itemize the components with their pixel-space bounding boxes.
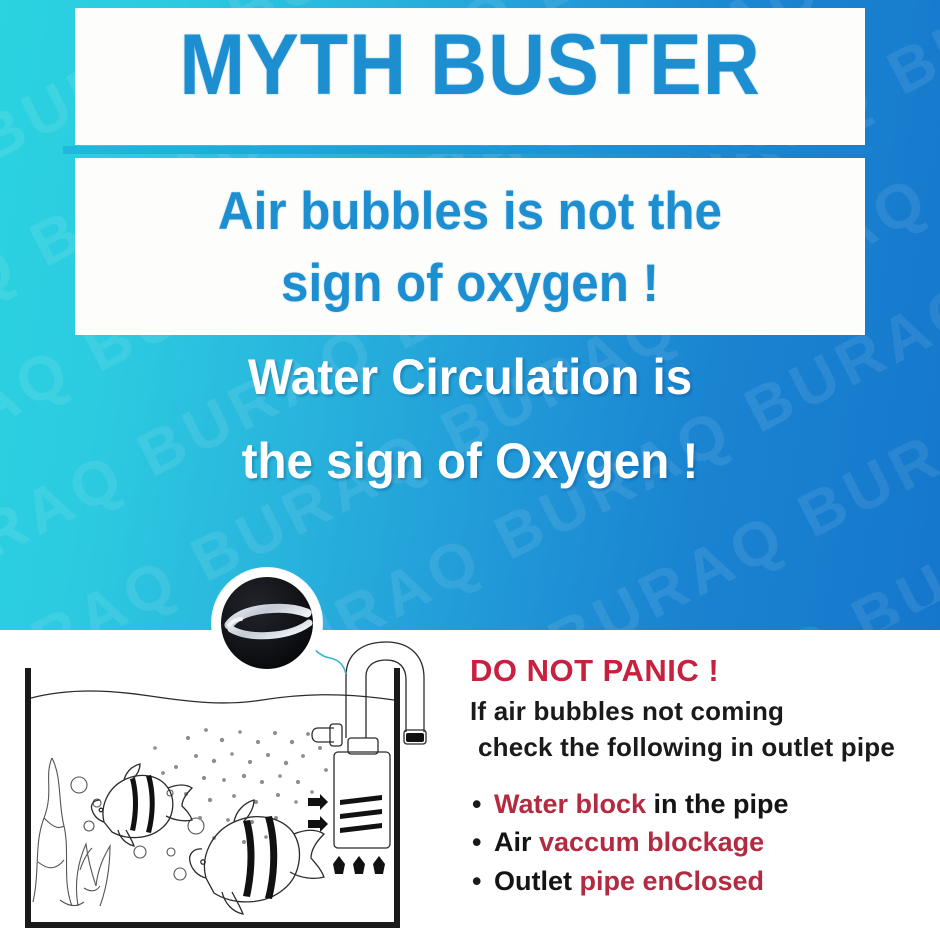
bullet-dot: • [472,827,494,858]
aquarium-diagram: .ln{fill:none;stroke:#2b2b2b;stroke-widt… [0,630,470,940]
list-item: •Outlet pipe enClosed [472,866,764,897]
outlet-pipe [346,642,426,744]
fish-upper [91,764,192,846]
flow-arrows [308,794,328,832]
list-item: •Water block in the pipe [472,789,789,820]
bullet-red-1: vaccum blockage [539,827,764,857]
title-panel: MYTH BUSTER [75,8,865,145]
bubble-spray [153,728,328,844]
subtitle-panel: Air bubbles is not the sign of oxygen ! [75,158,865,335]
bullet-black-2: Outlet [494,866,580,896]
subtitle-line-2: sign of oxygen ! [103,256,838,312]
panel-divider [63,146,877,154]
subtitle-line-1: Air bubbles is not the [103,184,838,240]
hero-line-2: the sign of Oxygen ! [95,434,846,488]
suction-cups [333,856,385,874]
page-title: MYTH BUSTER [107,22,834,108]
bullet-dot: • [472,789,494,820]
seaweed-short [76,844,110,906]
panic-heading: DO NOT PANIC ! [470,653,719,689]
bullet-red-0: Water block [494,789,646,819]
info-line-1: If air bubbles not coming [470,696,784,727]
bullet-black-0: in the pipe [646,789,789,819]
bullet-red-2: pipe enClosed [580,866,765,896]
poster-root: BURAQ BURAQ BURAQ BURAQ BURAQ BURAQ BURA… [0,0,940,940]
bullet-black-1: Air [494,827,539,857]
bullet-dot: • [472,866,494,897]
fish-lower [190,800,324,914]
info-line-2: check the following in outlet pipe [478,732,895,763]
hero-line-1: Water Circulation is [95,350,846,404]
water-surface [31,691,394,703]
list-item: •Air vaccum blockage [472,827,764,858]
air-stone-closeup [221,577,313,669]
